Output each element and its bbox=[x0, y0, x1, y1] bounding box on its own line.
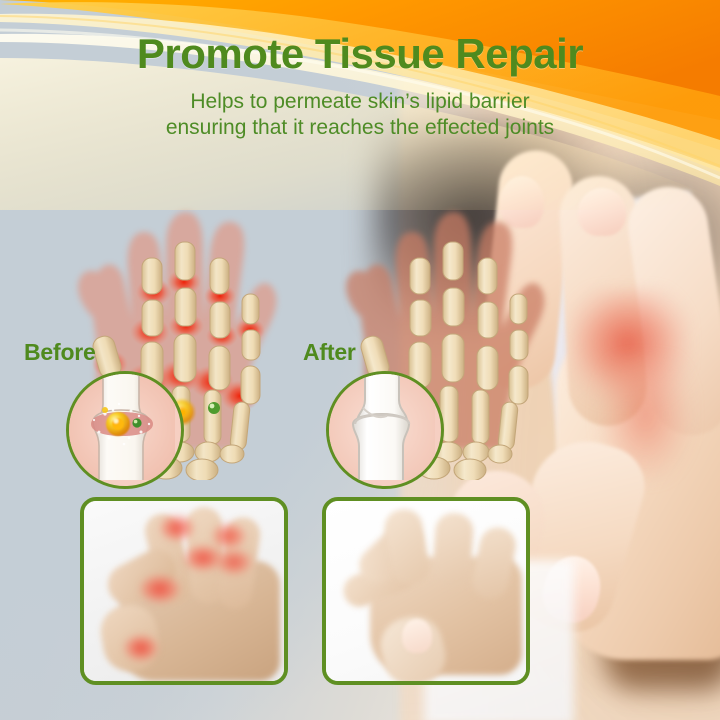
photo-red-knuckle bbox=[212, 523, 246, 549]
photo-red-knuckle bbox=[216, 549, 252, 575]
healthy-joint-closeup bbox=[326, 371, 444, 489]
photo-red-knuckle bbox=[160, 515, 194, 541]
photo-finger bbox=[431, 512, 474, 588]
before-label: Before bbox=[24, 339, 96, 366]
after-label: After bbox=[303, 339, 356, 366]
photo-arthritic-hands bbox=[80, 497, 288, 685]
page-subtitle: Helps to permeate skin’s lipid barrier e… bbox=[0, 89, 720, 141]
page-title: Promote Tissue Repair bbox=[0, 30, 720, 78]
promo-graphic: Promote Tissue Repair Helps to permeate … bbox=[0, 0, 720, 720]
photo-healthy-hand bbox=[322, 497, 530, 685]
subtitle-line-2: ensuring that it reaches the effected jo… bbox=[0, 115, 720, 141]
subtitle-line-1: Helps to permeate skin’s lipid barrier bbox=[0, 89, 720, 115]
photo-red-knuckle bbox=[124, 635, 158, 661]
inflamed-joint-closeup bbox=[66, 371, 184, 489]
photo-red-knuckle bbox=[140, 575, 180, 603]
photo-fingernail bbox=[402, 619, 432, 653]
